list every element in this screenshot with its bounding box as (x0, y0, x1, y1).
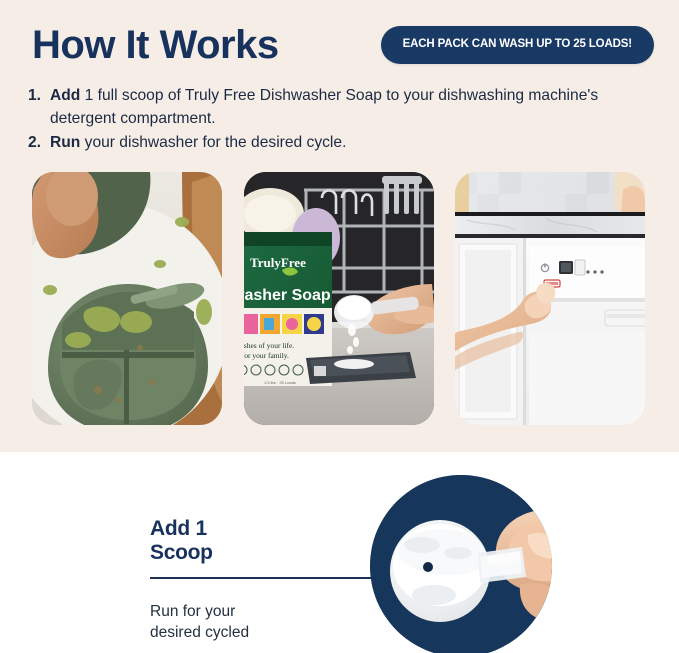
step-rest: 1 full scoop of Truly Free Dishwasher So… (50, 87, 598, 127)
step-text: Add 1 full scoop of Truly Free Dishwashe… (50, 84, 656, 131)
header-row: How It Works EACH PACK CAN WASH UP TO 25… (32, 14, 654, 76)
callout-text-block: Add 1 Scoop (150, 517, 350, 566)
dirty-dishes-photo (32, 172, 222, 425)
callout-subtitle: Run for your desired cycled (150, 601, 350, 644)
step-text: Run your dishwasher for the desired cycl… (50, 131, 656, 154)
add-one-scoop-section: Add 1 Scoop Run for your desired cycled (0, 452, 679, 653)
step-lead: Add (50, 87, 80, 104)
svg-text:washer Soap: washer Soap (244, 287, 331, 304)
callout-subtitle-block: Run for your desired cycled (150, 585, 350, 644)
svg-text:fe for your family.: fe for your family. (244, 351, 289, 360)
page-title: How It Works (32, 25, 279, 65)
photo-strip: TrulyFree washer Soap t dishes of your l… (32, 172, 645, 425)
scoop-photo (370, 475, 552, 653)
step-rest: your dishwasher for the desired cycle. (80, 134, 346, 151)
how-it-works-section: How It Works EACH PACK CAN WASH UP TO 25… (0, 0, 679, 452)
instruction-list: 1. Add 1 full scoop of Truly Free Dishwa… (26, 84, 656, 154)
loads-badge: EACH PACK CAN WASH UP TO 25 LOADS! (381, 26, 654, 65)
step-lead: Run (50, 134, 80, 151)
step-number: 2. (26, 131, 50, 154)
list-item: 1. Add 1 full scoop of Truly Free Dishwa… (26, 84, 656, 131)
step-number: 1. (26, 84, 50, 107)
list-item: 2. Run your dishwasher for the desired c… (26, 131, 656, 154)
pouring-soap-photo: TrulyFree washer Soap t dishes of your l… (244, 172, 434, 425)
svg-text:TrulyFree: TrulyFree (250, 255, 306, 270)
callout-title: Add 1 Scoop (150, 517, 350, 566)
svg-text:1.5 lbs · 25 Loads: 1.5 lbs · 25 Loads (264, 380, 296, 385)
svg-text:t dishes of your life.: t dishes of your life. (244, 341, 294, 350)
dishwasher-start-photo (455, 172, 645, 425)
